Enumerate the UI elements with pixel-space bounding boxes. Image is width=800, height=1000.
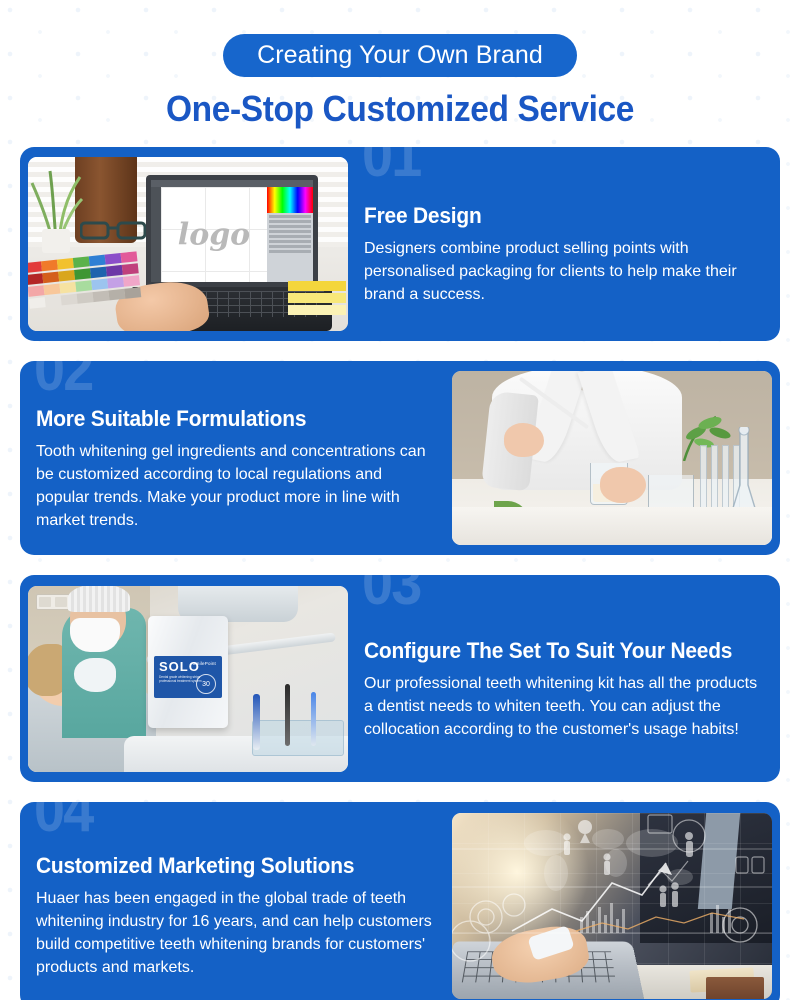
applicator-pen-dark (285, 684, 290, 746)
header-badge: Creating Your Own Brand (223, 34, 577, 77)
feature-card-list: logo (0, 147, 800, 1000)
analytics-overlay (452, 813, 772, 999)
card-03-title: Configure The Set To Suit Your Needs (364, 639, 744, 663)
color-swatch-fan (28, 251, 143, 324)
card-01-image: logo (28, 157, 348, 331)
feature-card-03: SOLO SmilePoint Dental grade whitening s… (20, 575, 780, 782)
dental-clinic-scene: SOLO SmilePoint Dental grade whitening s… (28, 586, 348, 772)
product-badge: 30 (196, 674, 216, 694)
laboratory-scene (452, 371, 772, 545)
applicator-pen-blue (311, 692, 316, 746)
wall-outlet-icon (36, 594, 70, 610)
right-hand (600, 467, 646, 503)
face-mask-icon (70, 618, 120, 652)
laptop-screen: logo (146, 175, 318, 287)
feature-card-01: logo (20, 147, 780, 341)
eyeglasses-icon (80, 219, 148, 241)
card-02-title: More Suitable Formulations (36, 407, 416, 431)
product-pouch: SOLO SmilePoint Dental grade whitening s… (148, 616, 228, 728)
left-hand (504, 423, 544, 457)
feature-card-04: 04 Customized Marketing Solutions Huaer … (20, 802, 780, 1000)
instrument-tray (252, 720, 344, 756)
feature-card-02: 02 More Suitable Formulations Tooth whit… (20, 361, 780, 555)
card-02-image (452, 371, 772, 545)
card-01-text: 01 Free Design Designers combine product… (348, 147, 780, 341)
color-swatch-strip (288, 281, 346, 329)
gloved-hand (74, 658, 116, 692)
card-03-text: 03 Configure The Set To Suit Your Needs … (348, 575, 780, 782)
card-02-text: 02 More Suitable Formulations Tooth whit… (20, 361, 452, 555)
card-03-body: Our professional teeth whitening kit has… (364, 672, 764, 741)
card-04-body: Huaer has been engaged in the global tra… (36, 887, 436, 979)
card-03-number: 03 (362, 575, 420, 615)
infographic-page: Creating Your Own Brand One-Stop Customi… (0, 0, 800, 1000)
laptop-logo-text: logo (178, 217, 250, 252)
page-title: One-Stop Customized Service (28, 90, 772, 128)
plant-icon (30, 161, 84, 253)
applicator-pen-syringe (253, 694, 260, 750)
card-01-body: Designers combine product selling points… (364, 237, 764, 306)
page-header: Creating Your Own Brand One-Stop Customi… (0, 0, 800, 128)
business-analytics-scene (452, 813, 772, 999)
card-02-body: Tooth whitening gel ingredients and conc… (36, 440, 436, 532)
product-brand: SmilePoint (192, 661, 216, 666)
card-04-image (452, 813, 772, 999)
card-04-text: 04 Customized Marketing Solutions Huaer … (20, 802, 452, 1000)
designer-desk-scene: logo (28, 157, 348, 331)
surgical-cap-icon (68, 586, 130, 612)
card-01-number: 01 (362, 147, 420, 187)
card-04-title: Customized Marketing Solutions (36, 854, 416, 878)
card-03-image: SOLO SmilePoint Dental grade whitening s… (28, 586, 348, 772)
card-01-title: Free Design (364, 204, 744, 228)
